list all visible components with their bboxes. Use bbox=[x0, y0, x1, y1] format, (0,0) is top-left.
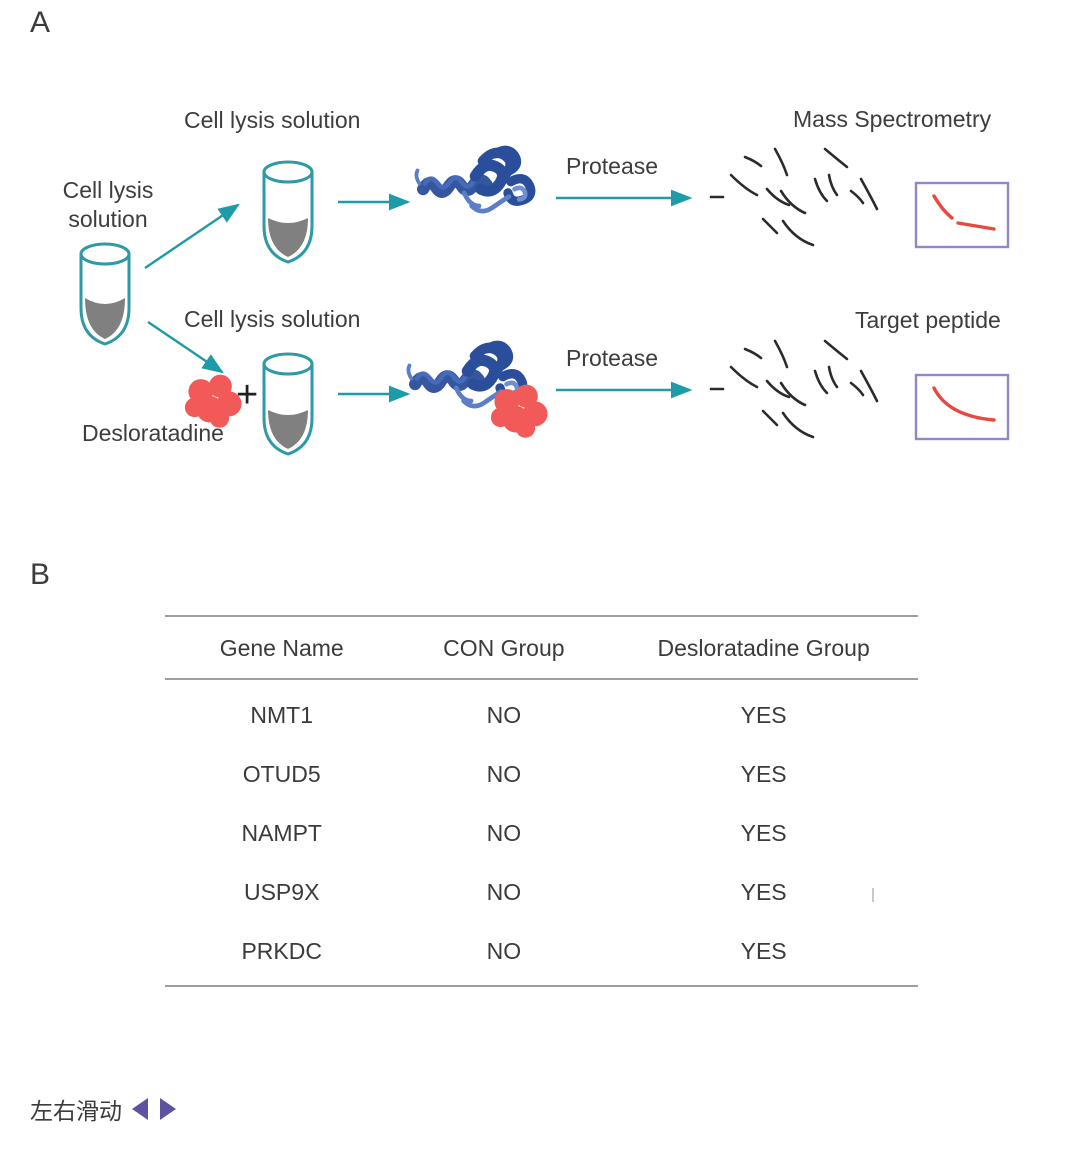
bound-drug-icon bbox=[491, 385, 548, 438]
bottom-lysis-tube-icon bbox=[264, 354, 312, 454]
column-header-gene-name: Gene Name bbox=[165, 616, 398, 679]
column-header-desloratadine-group: Desloratadine Group bbox=[609, 616, 918, 679]
cell-desloratadine-group: YES bbox=[609, 745, 918, 804]
cell-con-group: NO bbox=[398, 804, 609, 863]
plus-sign: + bbox=[236, 374, 258, 417]
top-lysis-tube-icon bbox=[264, 162, 312, 262]
column-header-con-group: CON Group bbox=[398, 616, 609, 679]
peptide-fragments-top-icon bbox=[711, 149, 877, 245]
source-tube-icon bbox=[81, 244, 129, 344]
panel-b-letter: B bbox=[30, 558, 50, 592]
cell-gene-name: OTUD5 bbox=[165, 745, 398, 804]
cell-gene-name: NAMPT bbox=[165, 804, 398, 863]
swipe-hint-label: 左右滑动 bbox=[30, 1092, 122, 1126]
cell-gene-name: PRKDC bbox=[165, 922, 398, 986]
table-body: NMT1 NO YES OTUD5 NO YES NAMPT NO YES US… bbox=[165, 679, 918, 986]
triangle-left-icon[interactable] bbox=[132, 1098, 148, 1120]
table-row: NAMPT NO YES bbox=[165, 804, 918, 863]
swipe-hint: 左右滑动 bbox=[30, 1092, 176, 1126]
target-peptide-label: Target peptide bbox=[855, 306, 1001, 335]
mass-spectrum-box-top-icon bbox=[916, 183, 1008, 247]
cell-gene-name: USP9X bbox=[165, 863, 398, 922]
top-tube-label: Cell lysis solution bbox=[184, 106, 360, 135]
table-row: NMT1 NO YES bbox=[165, 679, 918, 745]
cell-desloratadine-group: YES bbox=[609, 679, 918, 745]
drug-label: Desloratadine bbox=[82, 419, 224, 448]
protein-ribbon-top-icon bbox=[416, 150, 530, 211]
peptide-fragments-bottom-icon bbox=[711, 341, 877, 437]
source-tube-label: Cell lysis solution bbox=[48, 176, 168, 233]
cell-con-group: NO bbox=[398, 863, 609, 922]
table-header-row: Gene Name CON Group Desloratadine Group bbox=[165, 616, 918, 679]
panel-a-diagram bbox=[0, 0, 1080, 560]
mass-spectrum-box-bottom-icon bbox=[916, 375, 1008, 439]
cell-con-group: NO bbox=[398, 745, 609, 804]
table-row: USP9X NO YES bbox=[165, 863, 918, 922]
cell-desloratadine-group: YES bbox=[609, 922, 918, 986]
cell-con-group: NO bbox=[398, 679, 609, 745]
table-row: PRKDC NO YES bbox=[165, 922, 918, 986]
protease-label-bottom: Protease bbox=[566, 344, 658, 373]
table-edge-tick bbox=[872, 888, 874, 902]
cell-con-group: NO bbox=[398, 922, 609, 986]
triangle-right-icon[interactable] bbox=[160, 1098, 176, 1120]
mass-spectrometry-label: Mass Spectrometry bbox=[793, 105, 991, 134]
gene-results-table: Gene Name CON Group Desloratadine Group … bbox=[165, 615, 918, 987]
bottom-tube-label: Cell lysis solution bbox=[184, 305, 360, 334]
cell-gene-name: NMT1 bbox=[165, 679, 398, 745]
table-row: OTUD5 NO YES bbox=[165, 745, 918, 804]
cell-desloratadine-group: YES bbox=[609, 804, 918, 863]
protease-label-top: Protease bbox=[566, 152, 658, 181]
